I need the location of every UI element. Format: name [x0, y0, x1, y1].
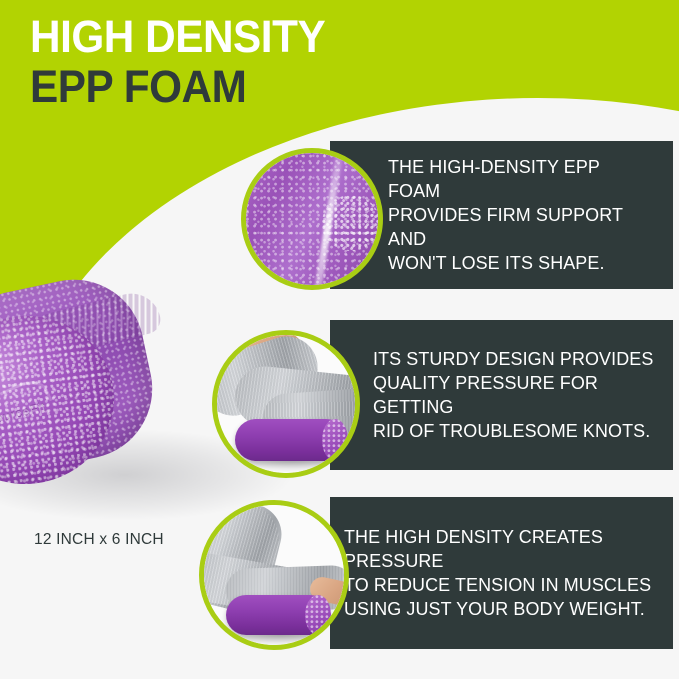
feature-inset-1-foam-closeup [241, 148, 383, 290]
page-title-line-1: HIGH DENSITY [30, 14, 325, 60]
brand-swoosh-icon [0, 374, 53, 419]
dimension-label: 12 INCH x 6 INCH [34, 531, 164, 549]
feature-panel-2: ITS STURDY DESIGN PROVIDES QUALITY PRESS… [330, 320, 673, 470]
scene-calf-roll [204, 505, 344, 645]
feature-inset-3-calf-roll [199, 500, 349, 650]
page-title-line-2: EPP FOAM [30, 64, 325, 110]
feature-inset-1-photo [246, 153, 378, 285]
product-infographic: HIGH DENSITY EPP FOAM ProsourceFit 12 IN… [0, 0, 679, 679]
roller-end-cap-small [322, 419, 348, 461]
feature-inset-2-thigh-roll [212, 330, 360, 478]
foam-speckle-highlight [322, 195, 378, 251]
scene-thigh-roll [217, 335, 355, 473]
roller-end-cap-small-3 [305, 595, 331, 635]
foam-roller-in-use-3 [226, 595, 330, 635]
feature-panel-3: THE HIGH DENSITY CREATES PRESSURE TO RED… [330, 497, 673, 649]
header: HIGH DENSITY EPP FOAM [30, 14, 344, 110]
feature-inset-3-photo [204, 505, 344, 645]
foam-roller-in-use [235, 419, 347, 461]
product-image-foam-roller: ProsourceFit [0, 300, 190, 490]
feature-panel-3-text: THE HIGH DENSITY CREATES PRESSURE TO RED… [344, 525, 657, 621]
feature-panel-2-text: ITS STURDY DESIGN PROVIDES QUALITY PRESS… [373, 347, 656, 443]
feature-panel-1-text: THE HIGH-DENSITY EPP FOAM PROVIDES FIRM … [388, 155, 657, 275]
feature-inset-2-photo [217, 335, 355, 473]
